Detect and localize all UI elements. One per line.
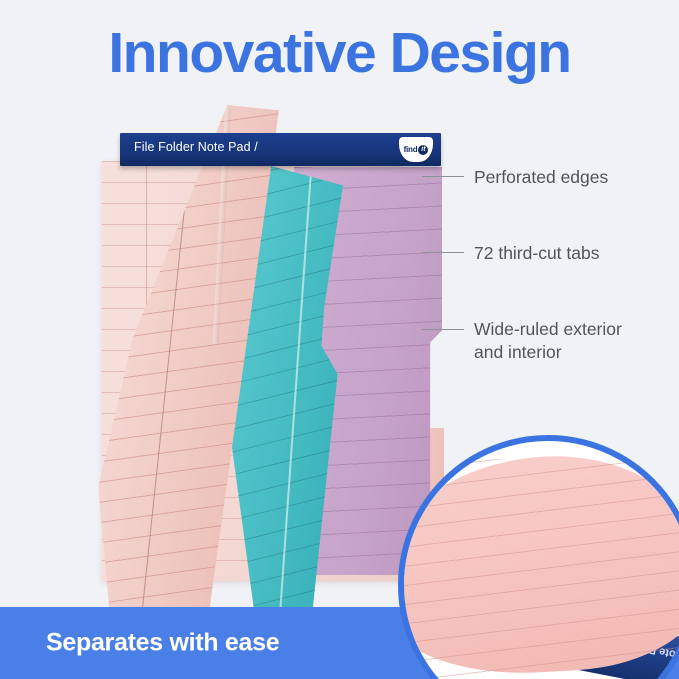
inset-ruling-lines xyxy=(398,449,679,679)
leader-line-wide-ruled xyxy=(422,329,464,330)
brand-mark-icon: it xyxy=(418,145,428,155)
detail-zoom-circle: find it Note Pad / 3-Tab xyxy=(398,435,679,679)
product-header-strip: File Folder Note Pad / find it xyxy=(120,133,441,166)
banner-text: Separates with ease xyxy=(46,629,279,658)
find-it-logo-badge: find it xyxy=(399,137,433,162)
callout-third-cut-tabs: 72 third-cut tabs xyxy=(474,242,599,265)
leader-line-third-cut-tabs xyxy=(422,252,464,253)
inset-pink-sheet xyxy=(398,449,679,679)
callout-wide-ruled: Wide-ruled exterior and interior xyxy=(474,318,622,364)
callout-wide-ruled-line1: Wide-ruled exterior xyxy=(474,318,622,341)
product-feature-image: Innovative Design File Folder Note Pad / xyxy=(0,0,679,679)
brand-name-text: find xyxy=(404,145,418,154)
callout-wide-ruled-line2: and interior xyxy=(474,341,622,364)
product-header-label: File Folder Note Pad / xyxy=(134,140,258,154)
callout-perforated-edges: Perforated edges xyxy=(474,166,608,189)
page-title: Innovative Design xyxy=(0,24,679,84)
product-photo: File Folder Note Pad / find it xyxy=(96,133,441,583)
leader-line-perforated xyxy=(422,176,464,177)
